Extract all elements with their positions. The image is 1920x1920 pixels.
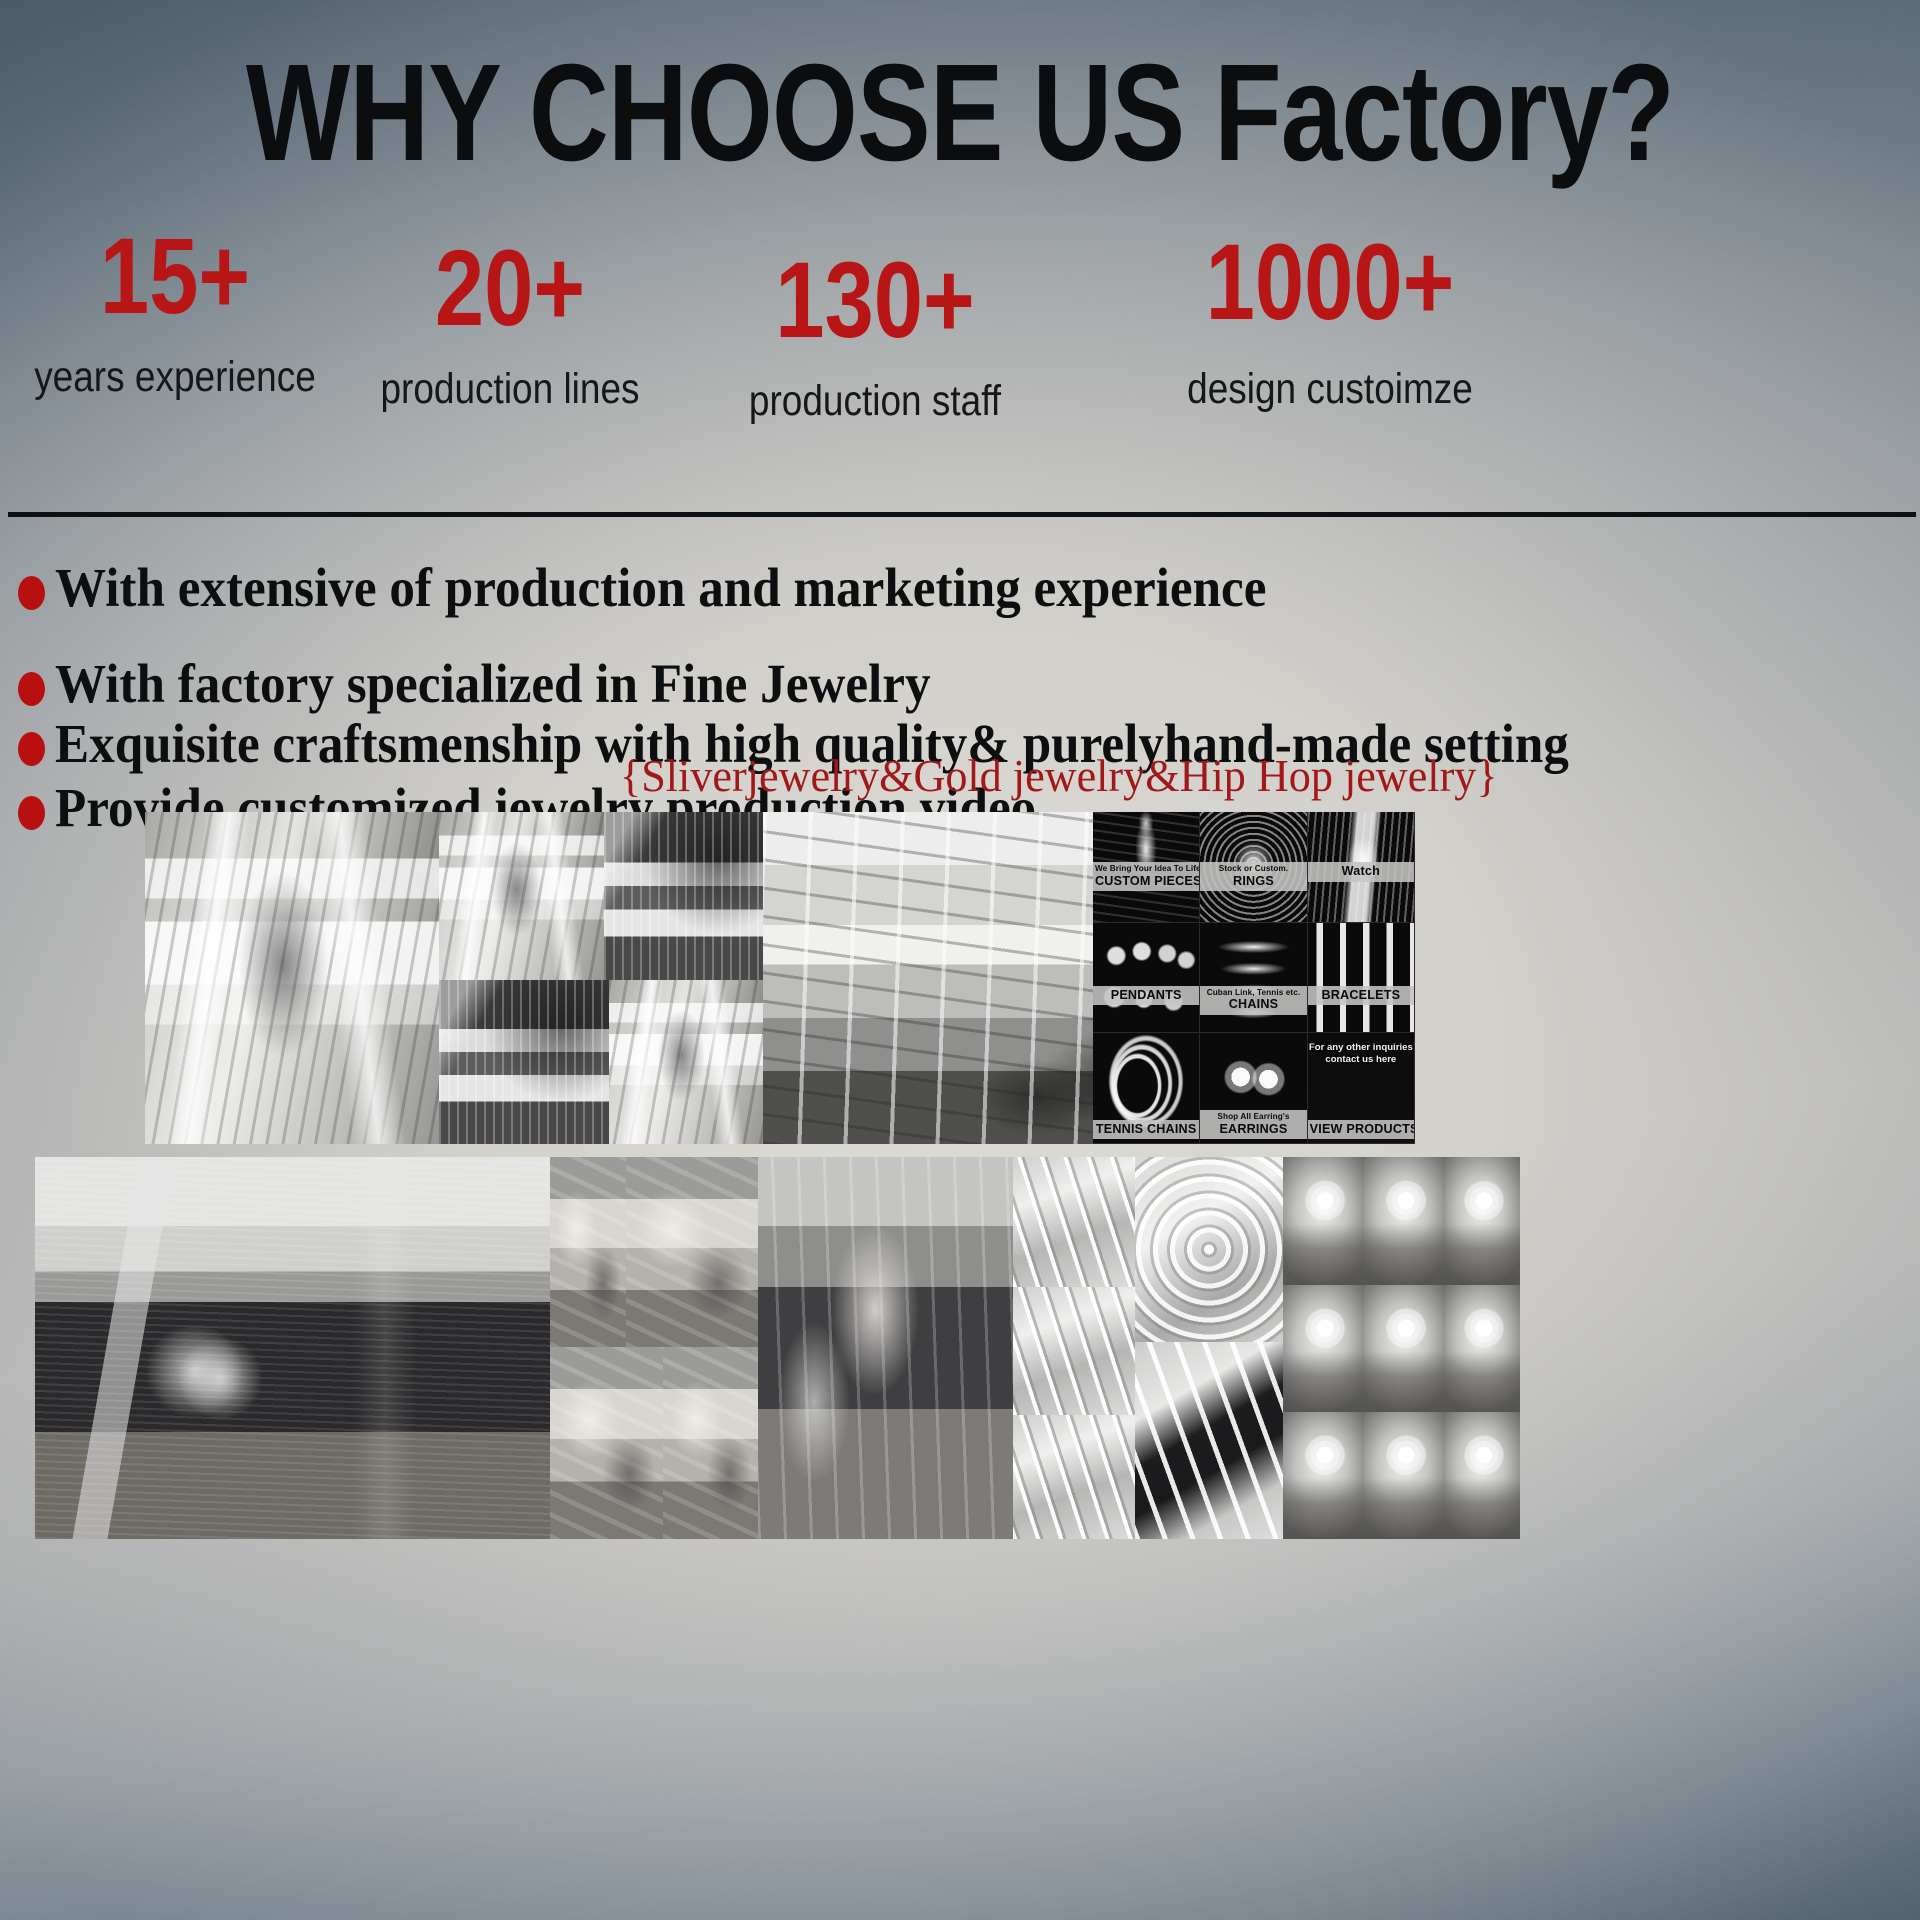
bullet-dot-icon	[18, 732, 45, 766]
bullet-dot-icon	[18, 796, 45, 830]
stat-item-production-staff: 130+ production staff	[700, 243, 1050, 426]
stat-number: 15+	[40, 219, 311, 332]
catalog-subtitle: Stock or Custom.	[1202, 864, 1304, 873]
ring-photo-5	[1364, 1285, 1445, 1412]
catalog-cell-pendants[interactable]: PENDANTS	[1093, 923, 1200, 1034]
ring-photo-4	[1283, 1285, 1364, 1412]
list-item: With extensive of production and marketi…	[18, 560, 1358, 616]
stat-number: 1000+	[1150, 225, 1511, 338]
tennis-bracelet-photo-2	[1013, 1287, 1135, 1415]
catalog-title: CUSTOM PIECES	[1095, 874, 1197, 888]
catalog-label: We Bring Your Idea To Life. CUSTOM PIECE…	[1093, 862, 1199, 890]
cleanroom-door-photo	[609, 980, 763, 1144]
catalog-cell-tennis-chains[interactable]: TENNIS CHAINS	[1093, 1033, 1200, 1144]
stat-item-production-lines: 20+ production lines	[340, 231, 680, 414]
catalog-label: BRACELETS	[1308, 986, 1414, 1005]
stat-label: years experience	[33, 354, 317, 401]
ring-photo-7	[1283, 1412, 1364, 1539]
catalog-subtitle: We Bring Your Idea To Life.	[1095, 864, 1197, 873]
stat-item-years-experience: 15+ years experience	[10, 219, 340, 402]
catalog-cell-view-products[interactable]: For any other inquiries contact us here …	[1308, 1033, 1415, 1144]
catalog-title: Watch	[1310, 864, 1412, 878]
catalog-title: RINGS	[1202, 874, 1304, 888]
catalog-title: TENNIS CHAINS	[1095, 1122, 1197, 1136]
factory-hallway-photo	[439, 812, 604, 980]
tennis-bracelet-photo-1	[1013, 1157, 1135, 1287]
stat-label: production lines	[364, 366, 656, 413]
bullet-dot-icon	[18, 576, 45, 610]
catalog-title: PENDANTS	[1095, 988, 1197, 1002]
catalog-title: CHAINS	[1202, 997, 1304, 1011]
stat-item-design-customize: 1000+ design custoimze	[1110, 225, 1550, 414]
jeweler-bench-photo	[758, 1157, 1013, 1539]
catalog-label: Stock or Custom. RINGS	[1200, 862, 1306, 890]
bullet-text: With extensive of production and marketi…	[55, 560, 1266, 616]
stat-number: 130+	[732, 243, 1019, 356]
catalog-label: Watch	[1308, 862, 1414, 881]
catalog-cell-custom-pieces[interactable]: We Bring Your Idea To Life. CUSTOM PIECE…	[1093, 812, 1200, 923]
horizontal-divider	[8, 512, 1916, 517]
stat-number: 20+	[371, 231, 650, 344]
factory-corridor-photo	[145, 812, 439, 1144]
page-title: WHY CHOOSE US Factory?	[192, 44, 1728, 182]
catalog-subtitle: Shop All Earring's	[1202, 1112, 1304, 1121]
jewelry-catalog-grid: We Bring Your Idea To Life. CUSTOM PIECE…	[1093, 812, 1415, 1144]
setting-hands-photo-1	[626, 1157, 758, 1347]
catalog-cell-bracelets[interactable]: BRACELETS	[1308, 923, 1415, 1034]
catalog-overlay-text: For any other inquiries contact us here	[1308, 1042, 1414, 1065]
catalog-label: PENDANTS	[1093, 986, 1199, 1005]
stat-label: production staff	[725, 378, 1026, 425]
bullet-text: With factory specialized in Fine Jewelry	[55, 656, 931, 712]
diamond-bracelet-photo	[1135, 1157, 1283, 1342]
polishing-wheel-photo	[663, 1347, 758, 1539]
black-band-bracelet-photo	[1135, 1342, 1283, 1539]
bracelets-icon	[1308, 923, 1414, 1033]
ring-photo-3	[1445, 1157, 1520, 1285]
ring-photo-2	[1364, 1157, 1445, 1285]
catalog-label: VIEW PRODUCTS	[1308, 1120, 1414, 1139]
cad-design-desk-photo	[35, 1157, 550, 1539]
catalog-title: EARRINGS	[1202, 1122, 1304, 1136]
ring-photo-1	[1283, 1157, 1364, 1285]
ring-photo-8	[1364, 1412, 1445, 1539]
ring-photo-9	[1445, 1412, 1520, 1539]
tennis-bracelet-photo-3	[1013, 1415, 1135, 1539]
catalog-subtitle: Cuban Link, Tennis etc.	[1202, 988, 1304, 997]
jewelry-categories-note: {Sliverjewelry&Gold jewelry&Hip Hop jewe…	[620, 753, 1498, 799]
catalog-label: TENNIS CHAINS	[1093, 1120, 1199, 1139]
catalog-title: BRACELETS	[1310, 988, 1412, 1002]
cnc-machine-photo	[604, 812, 763, 980]
stats-row: 15+ years experience 20+ production line…	[10, 215, 1910, 445]
pendants-icon	[1093, 923, 1199, 1033]
production-photo-collage-bottom	[35, 1157, 1520, 1539]
stat-label: design custoimze	[1141, 366, 1519, 413]
catalog-label: Cuban Link, Tennis etc. CHAINS	[1200, 986, 1306, 1014]
catalog-title: VIEW PRODUCTS	[1310, 1122, 1412, 1136]
polishing-hands-photo-2	[550, 1347, 663, 1539]
3d-printer-photo	[439, 980, 609, 1144]
ring-photo-6	[1445, 1285, 1520, 1412]
catalog-cell-chains[interactable]: Cuban Link, Tennis etc. CHAINS	[1200, 923, 1307, 1034]
list-item: With factory specialized in Fine Jewelry	[18, 656, 996, 712]
catalog-cell-watch[interactable]: Watch	[1308, 812, 1415, 923]
catalog-cell-earrings[interactable]: Shop All Earring's EARRINGS	[1200, 1033, 1307, 1144]
catalog-cell-rings[interactable]: Stock or Custom. RINGS	[1200, 812, 1307, 923]
polishing-hands-photo-1	[550, 1157, 626, 1347]
chains-icon	[1200, 923, 1306, 1033]
bullet-dot-icon	[18, 672, 45, 706]
catalog-label: Shop All Earring's EARRINGS	[1200, 1110, 1306, 1138]
